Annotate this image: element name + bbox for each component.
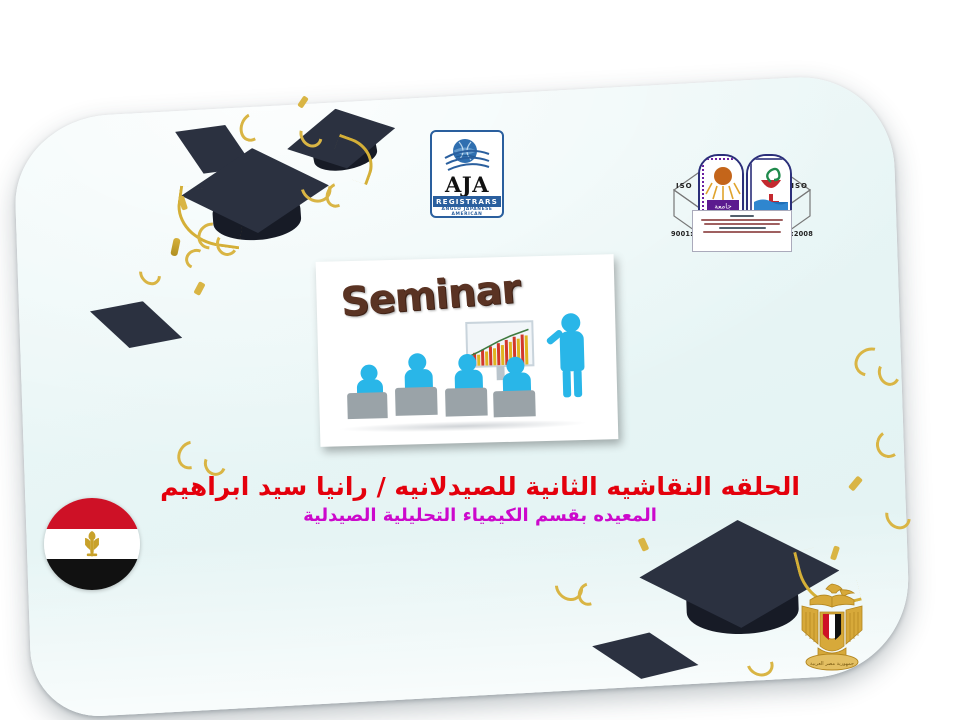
- floor-shadow: [338, 418, 588, 435]
- university-accreditation-logo: ISO 9001:2015 ISO 9001:2008 جامعة: [672, 150, 812, 254]
- faculty-caption-block: [692, 210, 792, 252]
- seminar-caption: Seminar: [339, 266, 522, 326]
- page-title: الحلقه النقاشيه الثانية للصيدلانيه / ران…: [0, 472, 960, 501]
- eagle-of-saladin-icon: [79, 529, 105, 559]
- caption-line: [719, 227, 766, 229]
- presenter-figure: [549, 313, 595, 400]
- egypt-flag-badge: [44, 498, 140, 590]
- aja-logo-wordmark: AJA: [430, 174, 504, 195]
- aja-registrars-logo: AJA REGISTRARS ANGLO JAPANESE AMERICAN: [430, 130, 504, 218]
- chair: [493, 390, 536, 417]
- seminar-photo: Seminar: [324, 262, 612, 436]
- chair: [395, 387, 438, 416]
- assiut-university-emblem-icon: جامعة: [698, 154, 744, 216]
- globe-icon: [443, 136, 491, 176]
- chair: [445, 387, 488, 416]
- seminar-photo-card: Seminar: [316, 254, 619, 447]
- aja-logo-band: REGISTRARS: [433, 196, 501, 207]
- pharmacy-emblem-icon: [746, 154, 792, 216]
- aja-logo-subtitle: ANGLO JAPANESE AMERICAN: [430, 207, 504, 217]
- chair: [347, 392, 388, 419]
- slide-root: AJA REGISTRARS ANGLO JAPANESE AMERICAN I…: [0, 0, 960, 720]
- caption-line: [730, 215, 754, 217]
- flag-stripe-red: [44, 498, 140, 529]
- iso-right-label: ISO: [791, 182, 808, 190]
- egypt-coat-of-arms-icon: جمهورية مصر العربية: [780, 578, 884, 682]
- page-subtitle: المعيده بقسم الكيمياء التحليلية الصيدلية: [0, 505, 960, 526]
- svg-text:جمهورية مصر العربية: جمهورية مصر العربية: [810, 661, 854, 667]
- iso-left-label: ISO: [676, 182, 693, 190]
- caption-line: [704, 223, 779, 225]
- caption-line: [701, 219, 784, 221]
- caption-line: [703, 231, 782, 233]
- flag-stripe-black: [44, 559, 140, 590]
